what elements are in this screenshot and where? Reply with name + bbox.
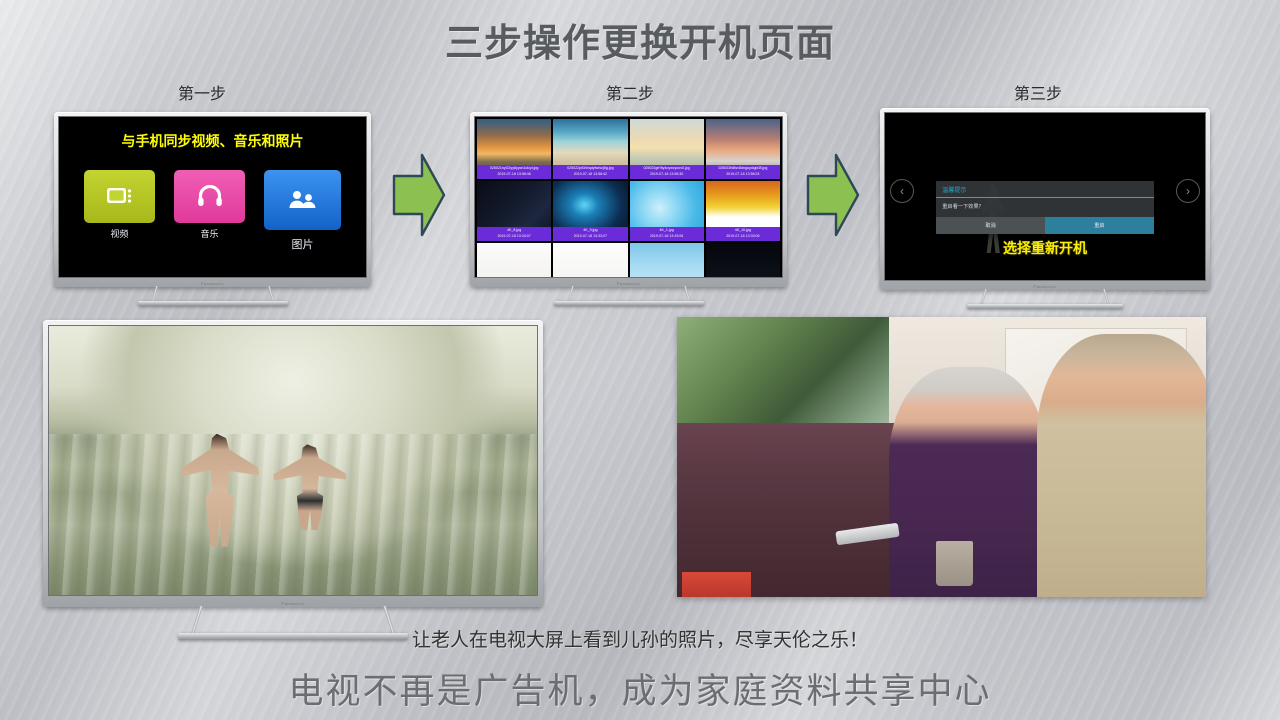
tv-step2: 025021nyG2yy8yycn1olcyl.jpg2019-07-18 13… [470, 112, 787, 287]
thumbnail-caption: 025021nyG2yy8yycn1olcyl.jpg2019-07-18 13… [477, 165, 551, 179]
tile-video[interactable]: 视频 [84, 170, 155, 252]
thumbnail-caption: 4K_9.jpg2019-07-18 13:33:07 [553, 227, 627, 241]
tv-step1: 与手机同步视频、音乐和照片 视频 [54, 112, 371, 287]
thumbnail-caption: 025022pit3hhqdyfwrkzj5g.jpg2019-07-18 13… [553, 165, 627, 179]
gallery-thumb[interactable] [630, 243, 704, 278]
thumbnail-date: 2019-07-18 13:56:30 [630, 172, 704, 178]
page-title: 三步操作更换开机页面 [0, 12, 1280, 67]
thumbnail-caption: 4K_10.jpg2019-07-18 13:33:06 [706, 227, 780, 241]
tv2-screen: 025021nyG2yy8yycn1olcyl.jpg2019-07-18 13… [474, 116, 783, 278]
thumbnail-caption: 025022gfr9ty4oywxyocv0.jpg2019-07-18 13:… [630, 165, 704, 179]
tv3-note: 选择重新开机 [885, 238, 1205, 258]
tv1-tile-row: 视频 音乐 [59, 170, 366, 252]
gallery-thumb[interactable] [553, 243, 627, 278]
tv1-bezel: 与手机同步视频、音乐和照片 视频 [54, 112, 371, 287]
caption-middle: 让老人在电视大屏上看到儿孙的照片，尽享天伦之乐！ [0, 625, 1280, 652]
dialog-button-row: 取消 重启 [936, 217, 1154, 234]
flow-arrow-2 [806, 152, 860, 238]
tv1-brand: Panasonic [201, 281, 224, 286]
caption-headline: 电视不再是广告机，成为家庭资料共享中心 [0, 663, 1280, 714]
right-arrow-icon [392, 152, 446, 238]
thumbnail-image [706, 243, 780, 278]
tile-picture[interactable]: 图片 [264, 170, 341, 252]
gallery-thumb[interactable]: 4K_9.jpg2019-07-18 13:33:07 [553, 181, 627, 241]
gallery-next-icon[interactable]: › [1176, 179, 1200, 203]
tile-music[interactable]: 音乐 [174, 170, 245, 252]
tile-music-box[interactable] [174, 170, 245, 223]
headphones-icon [197, 184, 223, 208]
tile-picture-box[interactable] [264, 170, 341, 230]
step-label-3: 第三步 [958, 80, 1118, 104]
people-photo-icon [288, 189, 318, 211]
beach-photo [49, 326, 537, 595]
thumbnail-image [477, 243, 551, 278]
flow-arrow-1 [392, 152, 446, 238]
gallery-thumb[interactable]: 4K_8.jpg2019-07-18 13:33:07 [477, 181, 551, 241]
person-man [1037, 334, 1206, 597]
tv3-bezel: ‹ › 温馨提示 重启看一下效果？ 取消 重启 选择重新开机 Panasonic [880, 108, 1210, 290]
sea-shimmer [49, 434, 537, 595]
tv-showcase: Panasonic [43, 320, 543, 607]
gallery-thumb[interactable]: 025021nyG2yy8yycn1olcyl.jpg2019-07-18 13… [477, 119, 551, 179]
tile-music-label: 音乐 [200, 227, 218, 240]
step-label-2: 第二步 [550, 80, 710, 104]
thumbnail-image [553, 243, 627, 278]
gallery-thumb[interactable]: 025022gfr9ty4oywxyocv0.jpg2019-07-18 13:… [630, 119, 704, 179]
thumbnail-caption: 4K_1.jpg2019-07-18 13:33:06 [630, 227, 704, 241]
coffee-mug [936, 541, 973, 586]
gallery-thumb[interactable]: 4K_1.jpg2019-07-18 13:33:06 [630, 181, 704, 241]
tv3-brand: Panasonic [1033, 284, 1056, 289]
thumbnail-date: 2019-07-18 13:33:06 [630, 234, 704, 240]
showcase-screen [48, 325, 538, 596]
gallery-thumb[interactable]: 025022pit3hhqdyfwrkzj5g.jpg2019-07-18 13… [553, 119, 627, 179]
thumbnail-date: 2019-07-18 13:56:24 [706, 172, 780, 178]
showcase-bezel: Panasonic [43, 320, 543, 607]
red-book [682, 572, 751, 597]
thumbnail-date: 2019-07-18 13:33:07 [553, 234, 627, 240]
gallery-thumb[interactable] [706, 243, 780, 278]
gallery-thumb[interactable]: 4K_10.jpg2019-07-18 13:33:06 [706, 181, 780, 241]
tile-video-label: 视频 [110, 227, 128, 240]
gallery-thumb[interactable]: 025022fd8sv8dnguydqip08.jpg2019-07-18 13… [706, 119, 780, 179]
tile-video-box[interactable] [84, 170, 155, 223]
tv2-brand: Panasonic [617, 281, 640, 286]
dialog-cancel-button[interactable]: 取消 [936, 217, 1045, 234]
right-arrow-icon [806, 152, 860, 238]
photo-gallery-grid: 025021nyG2yy8yycn1olcyl.jpg2019-07-18 13… [475, 117, 782, 277]
gallery-prev-icon[interactable]: ‹ [890, 179, 914, 203]
couple-photo [677, 317, 1206, 597]
tile-picture-label: 图片 [292, 236, 314, 252]
tv3-screen: ‹ › 温馨提示 重启看一下效果？ 取消 重启 选择重新开机 [884, 112, 1206, 281]
thumbnail-image [630, 243, 704, 278]
gallery-thumb[interactable] [477, 243, 551, 278]
tv1-headline: 与手机同步视频、音乐和照片 [59, 131, 366, 151]
dialog-title: 温馨提示 [936, 181, 1154, 198]
thumbnail-date: 2019-07-18 13:56:42 [553, 172, 627, 178]
thumbnail-date: 2019-07-18 13:33:07 [477, 234, 551, 240]
tv2-stand [554, 286, 704, 306]
dialog-confirm-button[interactable]: 重启 [1045, 217, 1154, 234]
television-icon [106, 185, 134, 207]
tv-step3: ‹ › 温馨提示 重启看一下效果？ 取消 重启 选择重新开机 Panasonic [880, 108, 1210, 290]
thumbnail-date: 2019-07-18 13:33:06 [706, 234, 780, 240]
thumbnail-date: 2019-07-18 13:56:46 [477, 172, 551, 178]
tv1-screen: 与手机同步视频、音乐和照片 视频 [58, 116, 367, 278]
showcase-brand: Panasonic [281, 601, 304, 606]
dialog-message: 重启看一下效果？ [936, 198, 1154, 217]
tv2-bezel: 025021nyG2yy8yycn1olcyl.jpg2019-07-18 13… [470, 112, 787, 287]
reboot-dialog: 温馨提示 重启看一下效果？ 取消 重启 [936, 181, 1154, 234]
tv3-stand [967, 289, 1123, 309]
step-label-1: 第一步 [122, 80, 282, 104]
thumbnail-caption: 025022fd8sv8dnguydqip08.jpg2019-07-18 13… [706, 165, 780, 179]
slide-canvas: 三步操作更换开机页面 第一步 第二步 第三步 与手机同步视频、音乐和照片 [0, 0, 1280, 720]
tv1-stand [138, 286, 288, 306]
thumbnail-caption: 4K_8.jpg2019-07-18 13:33:07 [477, 227, 551, 241]
